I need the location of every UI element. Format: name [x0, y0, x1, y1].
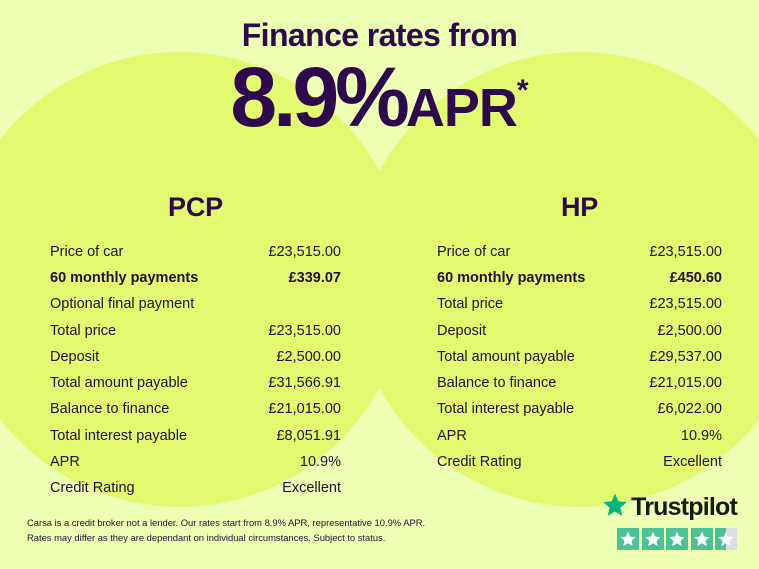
row-label: Price of car — [437, 243, 510, 262]
row-value: £23,515.00 — [649, 295, 722, 314]
star-icon — [617, 528, 639, 550]
table-row: Credit RatingExcellent — [437, 450, 722, 476]
promo-card: Finance rates from 8.9%APR* PCP Price of… — [0, 0, 759, 569]
row-label: Balance to finance — [50, 400, 169, 419]
row-value: £23,515.00 — [649, 243, 722, 262]
table-row: Total amount payable£31,566.91 — [50, 371, 341, 397]
rows-hp: Price of car£23,515.00 60 monthly paymen… — [437, 239, 722, 476]
row-value: £29,537.00 — [649, 348, 722, 367]
row-value: £2,500.00 — [276, 348, 341, 367]
table-row: 60 monthly payments£339.07 — [50, 265, 341, 291]
trustpilot-rating[interactable]: Trustpilot — [602, 492, 737, 550]
table-row: Deposit£2,500.00 — [50, 344, 341, 370]
row-label: APR — [437, 427, 467, 446]
row-label: Total price — [437, 295, 503, 314]
star-icon — [666, 528, 688, 550]
table-row: 60 monthly payments£450.60 — [437, 265, 722, 291]
row-value: £8,051.91 — [276, 427, 341, 446]
row-value: 10.9% — [300, 453, 341, 472]
footnote-asterisk: * — [517, 74, 529, 107]
row-value: £450.60 — [670, 269, 722, 288]
table-row: Total price£23,515.00 — [50, 318, 341, 344]
row-value: £31,566.91 — [268, 374, 341, 393]
row-label: Total interest payable — [50, 427, 187, 446]
table-row: APR10.9% — [437, 423, 722, 449]
table-row: Optional final payment — [50, 292, 341, 318]
table-row: APR10.9% — [50, 450, 341, 476]
row-label: Deposit — [50, 348, 99, 367]
table-row: Credit RatingExcellent — [50, 476, 341, 502]
finance-column-hp: HP Price of car£23,515.00 60 monthly pay… — [379, 192, 758, 502]
table-row: Total amount payable£29,537.00 — [437, 344, 722, 370]
row-label: 60 monthly payments — [50, 269, 198, 288]
disclaimer: Carsa is a credit broker not a lender. O… — [27, 515, 447, 545]
row-label: Credit Rating — [437, 453, 522, 472]
row-value: £23,515.00 — [268, 322, 341, 341]
star-icon-half — [715, 528, 737, 550]
row-label: Total amount payable — [50, 374, 188, 393]
column-title-hp: HP — [437, 192, 722, 223]
rate-headline: 8.9%APR* — [0, 53, 759, 139]
row-value: Excellent — [282, 479, 341, 498]
rate-unit: APR — [406, 78, 517, 138]
rows-pcp: Price of car£23,515.00 60 monthly paymen… — [50, 239, 341, 502]
star-icon — [691, 528, 713, 550]
row-value: £339.07 — [289, 269, 341, 288]
row-value: £23,515.00 — [268, 243, 341, 262]
table-row: Deposit£2,500.00 — [437, 318, 722, 344]
row-label: Total interest payable — [437, 400, 574, 419]
page-title: Finance rates from — [0, 0, 759, 53]
star-icon — [642, 528, 664, 550]
disclaimer-line-1: Carsa is a credit broker not a lender. O… — [27, 515, 447, 530]
row-label: Total amount payable — [437, 348, 575, 367]
table-row: Price of car£23,515.00 — [437, 239, 722, 265]
row-value: £21,015.00 — [649, 374, 722, 393]
row-label: 60 monthly payments — [437, 269, 585, 288]
finance-column-pcp: PCP Price of car£23,515.00 60 monthly pa… — [0, 192, 379, 502]
row-value: 10.9% — [681, 427, 722, 446]
table-row: Total price£23,515.00 — [437, 292, 722, 318]
table-row: Balance to finance£21,015.00 — [437, 371, 722, 397]
row-label: Deposit — [437, 322, 486, 341]
column-title-pcp: PCP — [50, 192, 341, 223]
row-label: Total price — [50, 322, 116, 341]
row-value: £2,500.00 — [657, 322, 722, 341]
table-row: Balance to finance£21,015.00 — [50, 397, 341, 423]
row-label: Optional final payment — [50, 295, 194, 314]
trustpilot-logo: Trustpilot — [602, 492, 737, 523]
row-label: Balance to finance — [437, 374, 556, 393]
row-label: Credit Rating — [50, 479, 135, 498]
row-label: Price of car — [50, 243, 123, 262]
row-label: APR — [50, 453, 80, 472]
table-row: Total interest payable£6,022.00 — [437, 397, 722, 423]
trustpilot-wordmark-text: Trustpilot — [631, 495, 737, 520]
trustpilot-stars — [602, 528, 737, 550]
table-row: Total interest payable£8,051.91 — [50, 423, 341, 449]
row-value: Excellent — [663, 453, 722, 472]
table-row: Price of car£23,515.00 — [50, 239, 341, 265]
row-value: £21,015.00 — [268, 400, 341, 419]
header: Finance rates from 8.9%APR* — [0, 0, 759, 139]
star-icon — [602, 492, 628, 523]
finance-comparison: PCP Price of car£23,515.00 60 monthly pa… — [0, 192, 759, 502]
row-value: £6,022.00 — [657, 400, 722, 419]
disclaimer-line-2: Rates may differ as they are dependant o… — [27, 530, 447, 545]
rate-value: 8.9% — [230, 50, 405, 144]
